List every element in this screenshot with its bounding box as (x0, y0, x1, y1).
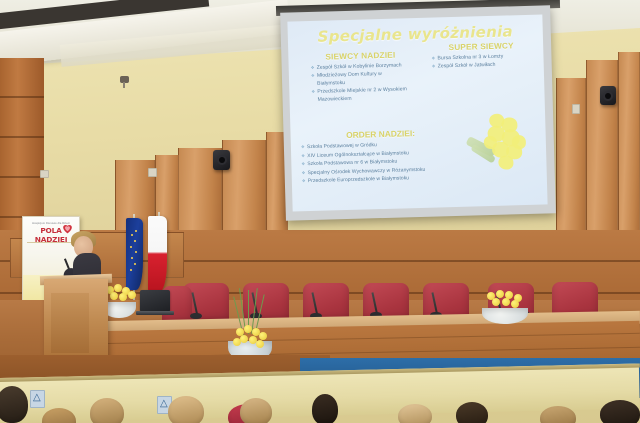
audience-head (240, 398, 272, 423)
section-item-list: Szkoła Podstawowej w Gródku XIV Liceum O… (301, 140, 462, 186)
slide-section-order-nadziei: ORDER NADZIEI: Szkoła Podstawowej w Gród… (300, 127, 461, 187)
slide-column-super-siewcy: SUPER SIEWCY Bursa Szkolna nr 3 w Łomży … (431, 41, 532, 73)
column-item-list: Bursa Szkolna nr 3 w Łomży Zespół Szkół … (431, 53, 531, 72)
audience-head (398, 404, 432, 423)
laptop-screen (140, 290, 170, 312)
list-item: Przedszkole Miejskie nr 2 w Wysokiem Maz… (311, 86, 411, 104)
audience-head (312, 394, 338, 423)
presentation-slide: Specjalne wyróżnienia SIEWCY NADZIEI Zes… (287, 14, 547, 211)
ceiling-camera-icon (120, 76, 129, 83)
column-item-list: Zespół Szkół w Kobylinie Borzymach Młodz… (311, 62, 412, 104)
wall-sign-icon (30, 390, 45, 408)
flower-arrangement (482, 290, 528, 324)
basket (482, 308, 528, 324)
list-item: Zespół Szkół w Jatwiłach (432, 61, 532, 71)
audience-head (600, 400, 640, 423)
audience-head (0, 386, 28, 423)
wall-speaker-left (213, 150, 230, 170)
audience-head (456, 402, 488, 423)
wall-plate-right (572, 104, 580, 114)
slide-column-siewcy-nadziei: SIEWCY NADZIEI Zespół Szkół w Kobylinie … (310, 50, 411, 105)
column-heading: SIEWCY NADZIEI (310, 50, 410, 62)
list-item: Młodzieżowy Dom Kultury w Białymstoku (311, 71, 411, 89)
poland-flag (148, 216, 167, 292)
column-heading: SUPER SIEWCY (431, 41, 531, 53)
wall-plate-mid (148, 168, 157, 177)
conference-hall-photo: Specjalne wyróżnienia SIEWCY NADZIEI Zes… (0, 0, 640, 423)
audience-head (168, 396, 204, 423)
audience-head (540, 406, 576, 423)
projection-screen: Specjalne wyróżnienia SIEWCY NADZIEI Zes… (280, 5, 556, 220)
flower-arrangement (228, 288, 272, 362)
lectern (44, 279, 108, 365)
section-heading: ORDER NADZIEI: (300, 127, 460, 141)
laptop-keyboard (136, 311, 174, 315)
audience-head (90, 398, 124, 423)
wall-plate-left (40, 170, 49, 178)
wall-speaker-right (600, 86, 616, 105)
lectern-panel (51, 293, 89, 353)
banner-divider (27, 242, 75, 243)
european-union-flag (126, 218, 143, 290)
daffodil-graphic-icon (467, 111, 539, 179)
heart-logo-icon (61, 222, 74, 235)
